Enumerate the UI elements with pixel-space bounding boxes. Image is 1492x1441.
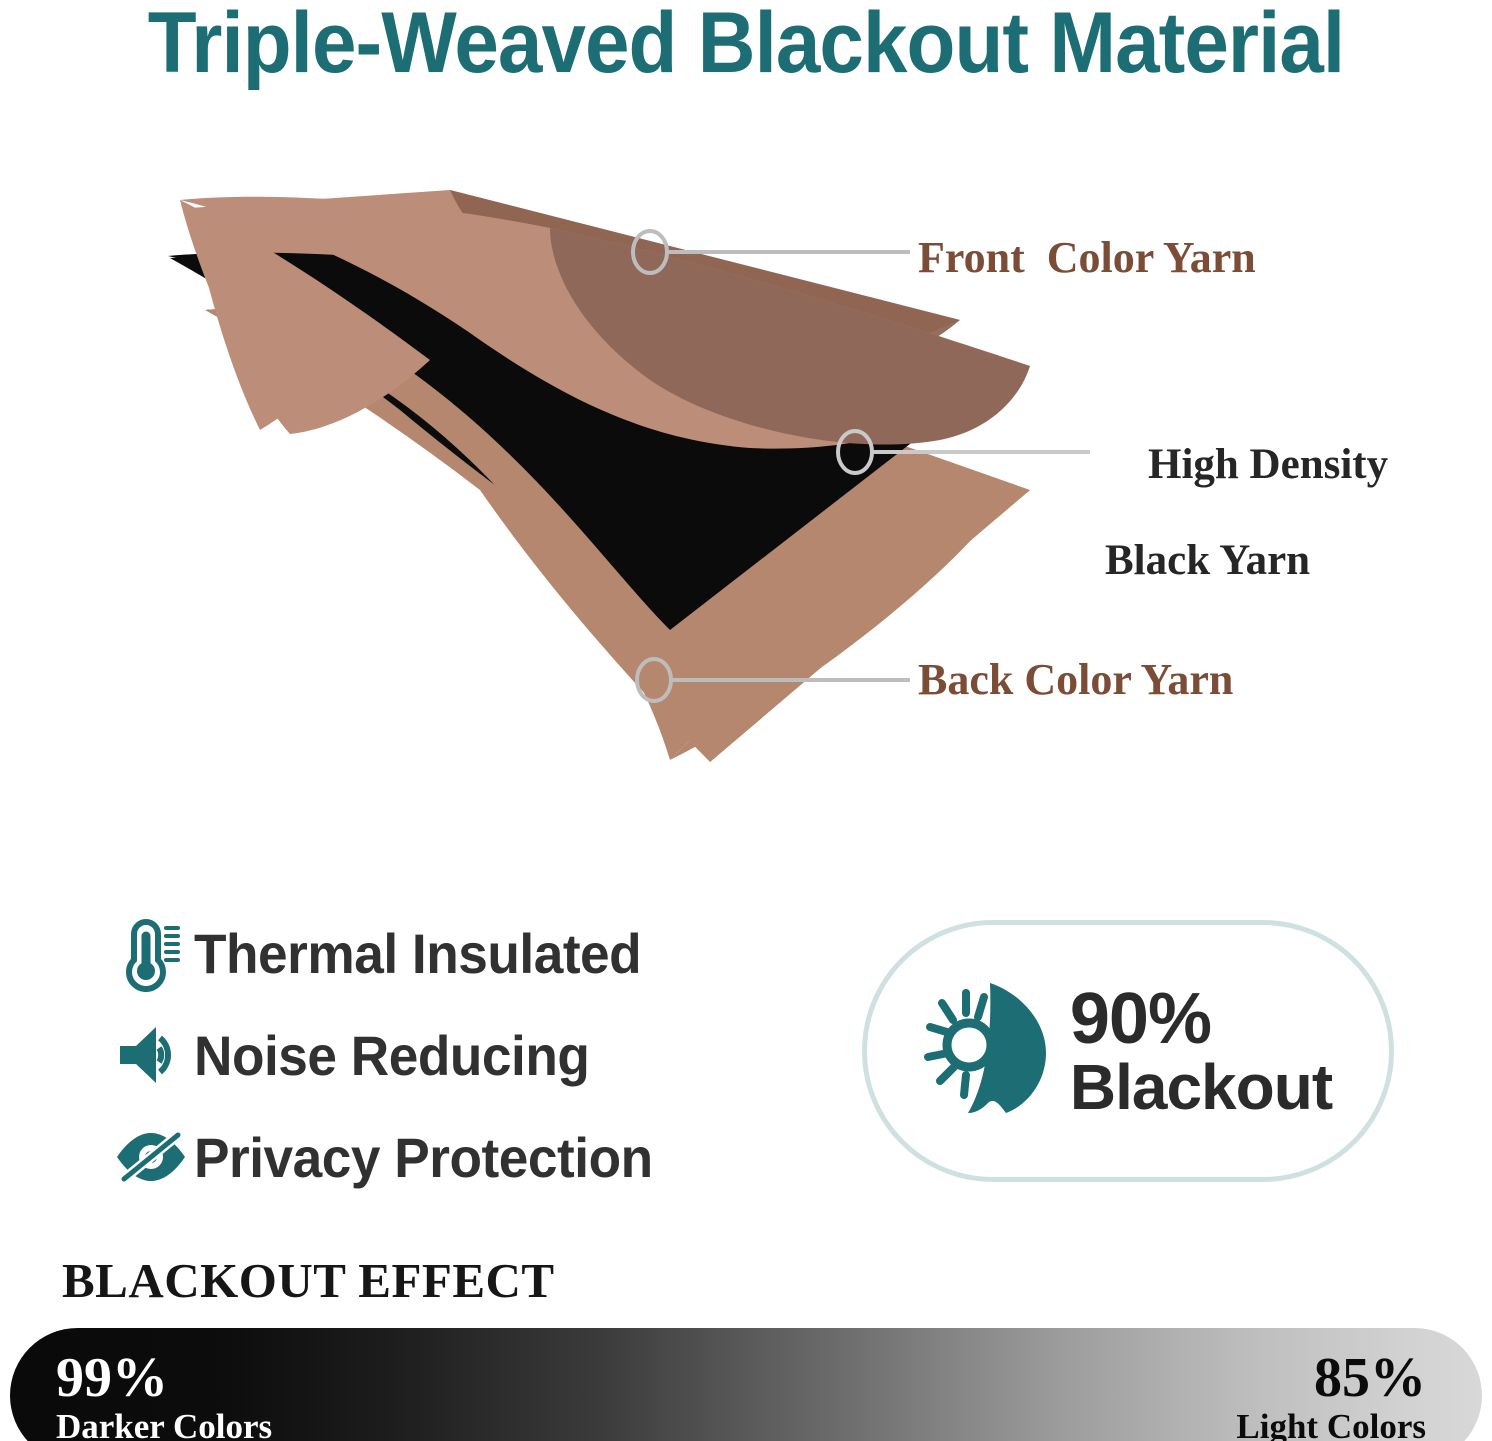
blackout-effect-gradient-bar: 99% Darker Colors 85% Light Colors	[10, 1328, 1482, 1441]
fabric-layers-detail	[150, 190, 1160, 830]
blackout-effect-heading: BLACKOUT EFFECT	[62, 1252, 555, 1309]
badge-word: Blackout	[1070, 1055, 1332, 1119]
page-title: Triple-Weaved Blackout Material	[52, 0, 1440, 93]
feature-list: Thermal Insulated Noise Reducing	[108, 903, 808, 1209]
feature-item-thermal: Thermal Insulated	[108, 903, 808, 1003]
feature-label-privacy: Privacy Protection	[194, 1125, 653, 1190]
speaker-sound-icon	[108, 1022, 194, 1088]
eye-slash-icon	[108, 1127, 194, 1187]
right-percent: 85%	[1236, 1350, 1426, 1407]
blackout-badge: 90% Blackout	[862, 920, 1394, 1182]
callout-black-label: High Density Black Yarn	[1105, 393, 1388, 682]
badge-text: 90% Blackout	[1070, 983, 1332, 1119]
callout-black-line2: Black Yarn	[1105, 537, 1388, 585]
gradient-bar-left-stat: 99% Darker Colors	[56, 1350, 272, 1441]
feature-item-noise: Noise Reducing	[108, 1005, 808, 1105]
left-caption: Darker Colors	[56, 1409, 272, 1441]
callout-back-label: Back Color Yarn	[918, 655, 1233, 704]
callout-front-label: Front Color Yarn	[918, 233, 1256, 282]
thermometer-icon	[108, 914, 194, 992]
callout-black-line1: High Density	[1148, 441, 1388, 488]
badge-percent: 90%	[1070, 983, 1332, 1055]
feature-item-privacy: Privacy Protection	[108, 1107, 808, 1207]
feature-label-thermal: Thermal Insulated	[194, 921, 641, 986]
left-percent: 99%	[56, 1350, 272, 1407]
right-caption: Light Colors	[1236, 1409, 1426, 1441]
gradient-bar-right-stat: 85% Light Colors	[1236, 1350, 1426, 1441]
product-infographic: Triple-Weaved Blackout Material	[0, 0, 1492, 1441]
feature-label-noise: Noise Reducing	[194, 1023, 589, 1088]
sun-behind-curtain-icon	[924, 979, 1052, 1124]
